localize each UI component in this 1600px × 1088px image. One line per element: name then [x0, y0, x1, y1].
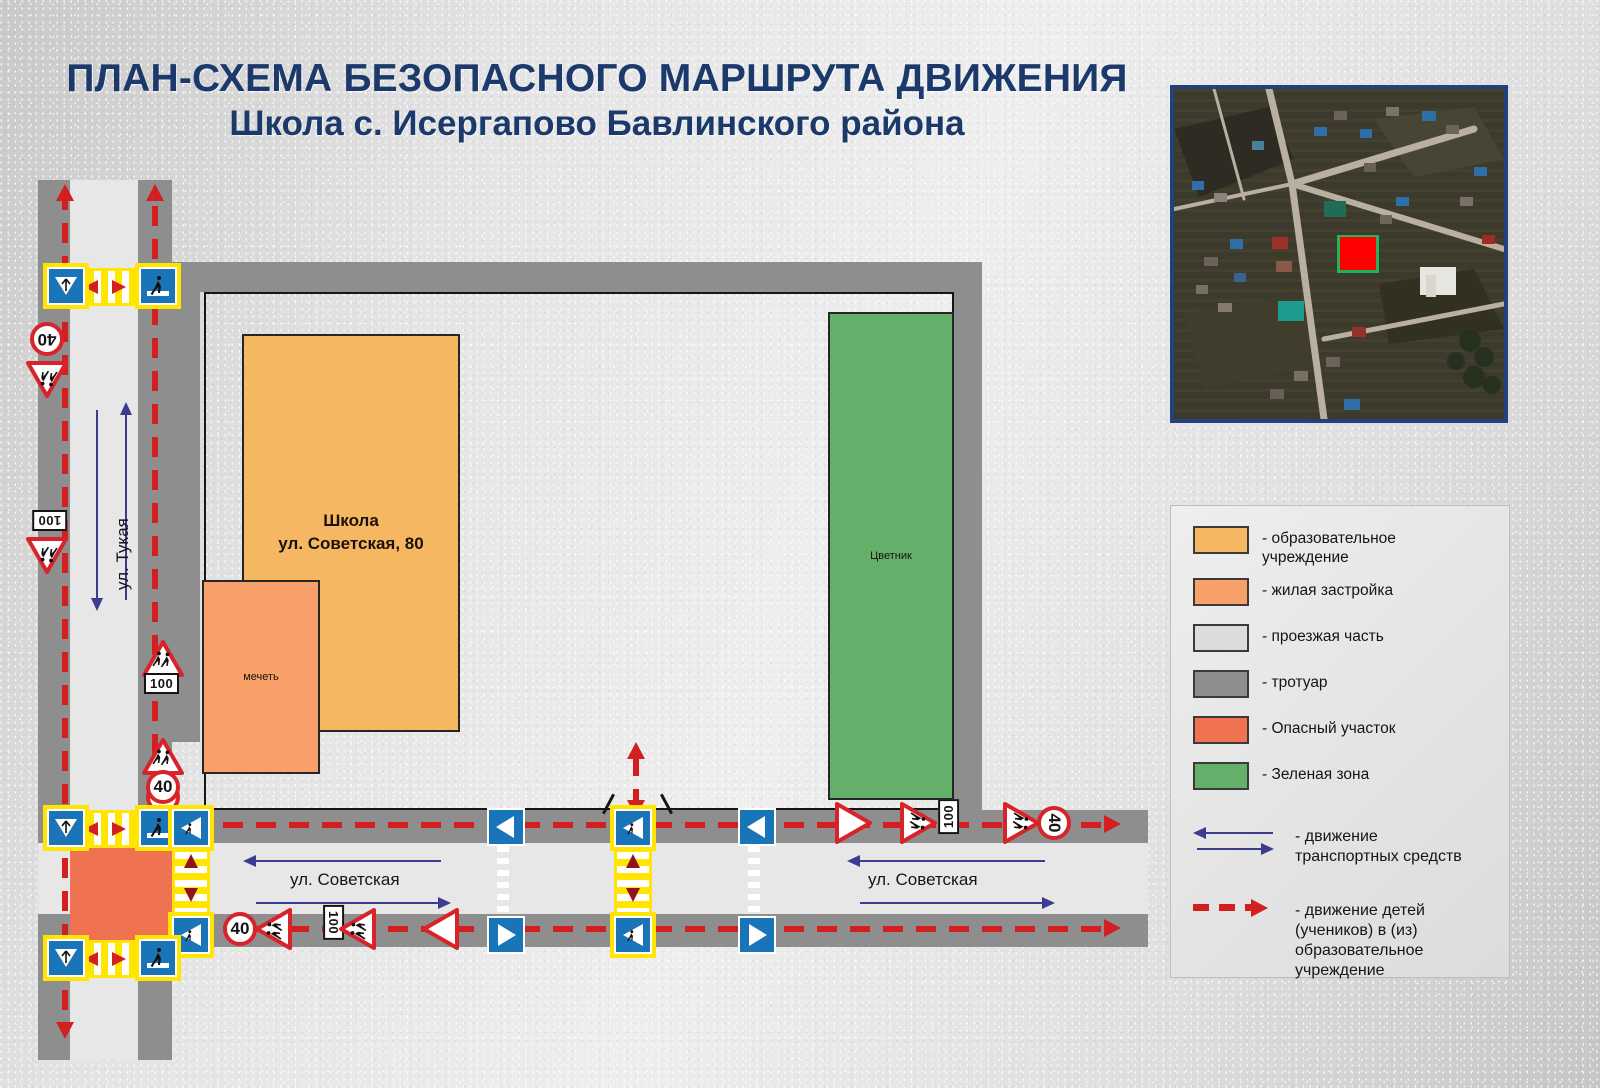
legend-label-education: - образовательное учреждение: [1262, 526, 1396, 568]
lane-marking-west: [497, 846, 509, 912]
legend-label-danger: - Опасный участок: [1262, 716, 1395, 738]
distance-plate-north-1[interactable]: 100: [938, 799, 959, 834]
pedestrian-crossing-sign-mid-left[interactable]: [47, 809, 85, 847]
legend-pupil-arrow-glyph: [1193, 898, 1273, 918]
building-flowerbed[interactable]: Цветник: [828, 312, 954, 800]
legend-item-pupil-movement: - движение детей (учеников) в (из) образ…: [1193, 898, 1425, 981]
pedestrian-crossing-ahead-icon: [177, 921, 205, 949]
direction-arrow-icon: [743, 813, 771, 841]
speed-limit-sign-west-upper[interactable]: 40: [30, 322, 64, 356]
crosswalk-arrow-top-right: [112, 280, 126, 294]
legend-item-housing: - жилая застройка: [1193, 578, 1393, 606]
crosswalk-arrow-mid-left: [84, 822, 98, 836]
yard-sidewalk-top: [172, 262, 982, 292]
children-crossing-icon: [1002, 802, 1040, 844]
pedestrian-crossing-ahead-icon: [53, 273, 79, 299]
legend-item-education: - образовательное учреждение: [1193, 526, 1396, 568]
street-label-sovetskaya-left: ул. Советская: [290, 870, 400, 890]
legend-swatch-sidewalk: [1193, 670, 1249, 698]
pupil-route-tukaya-west-lower-head: [56, 1022, 74, 1039]
traffic-arrow-sovetskaya-right-east-head: [1042, 897, 1055, 909]
pedestrian-crossing-ahead-icon: [619, 921, 647, 949]
pupil-route-school-gate-head-up: [627, 742, 645, 759]
title-sub-line: Школа с. Исергапово Бавлинского района: [42, 104, 1152, 143]
crosswalk-arrow-school-up: [626, 854, 640, 868]
legend-item-green: - Зеленая зона: [1193, 762, 1369, 790]
pedestrian-crossing-ahead-icon: [53, 815, 79, 841]
direction-arrow-icon: [492, 921, 520, 949]
direction-triangle-south-1[interactable]: [422, 908, 460, 950]
distance-plate-east[interactable]: 100: [144, 673, 179, 694]
traffic-arrow-sovetskaya-left-west-line: [256, 860, 441, 862]
children-crossing-icon: [339, 908, 377, 950]
pupil-route-school-gate: [633, 756, 639, 804]
crossing-sign-junction-north[interactable]: [172, 809, 210, 847]
pedestrian-crossing-ahead-icon: [177, 814, 205, 842]
legend-item-danger: - Опасный участок: [1193, 716, 1395, 744]
legend-traffic-arrow-glyph: [1193, 824, 1273, 858]
children-crossing-icon: [255, 908, 293, 950]
direction-arrow-icon: [422, 908, 460, 950]
legend-swatch-roadway: [1193, 624, 1249, 652]
crosswalk-arrow-west-up: [184, 854, 198, 868]
satellite-image: [1174, 89, 1504, 419]
pedestrian-crossing-sign-bot-left[interactable]: [47, 939, 85, 977]
route-map: Школа ул. Советская, 80 мечеть Цветник у…: [0, 170, 1160, 1070]
yard-sidewalk-right: [954, 262, 982, 810]
children-crossing-icon: [899, 802, 937, 844]
children-warning-sign-south-1[interactable]: [255, 908, 293, 950]
legend-item-traffic-movement: - движение транспортных средств: [1193, 824, 1462, 867]
direction-arrow-icon: [834, 802, 872, 844]
crosswalk-arrow-mid-right: [112, 822, 126, 836]
page-title: ПЛАН-СХЕМА БЕЗОПАСНОГО МАРШРУТА ДВИЖЕНИЯ…: [42, 58, 1152, 143]
children-crossing-icon: [26, 536, 68, 574]
direction-sign-north-mid[interactable]: [487, 808, 525, 846]
title-main-line: ПЛАН-СХЕМА БЕЗОПАСНОГО МАРШРУТА ДВИЖЕНИЯ: [42, 58, 1152, 100]
legend-label-housing: - жилая застройка: [1262, 578, 1393, 600]
direction-triangle-north-1[interactable]: [834, 802, 872, 844]
children-warning-sign-north-2[interactable]: [1002, 802, 1040, 844]
crosswalk-arrow-bot-right: [112, 952, 126, 966]
children-warning-sign-west-lower[interactable]: [26, 536, 68, 574]
direction-arrow-icon: [492, 813, 520, 841]
legend-swatch-danger: [1193, 716, 1249, 744]
traffic-arrow-sovetskaya-right-west-line: [860, 860, 1045, 862]
legend-item-roadway: - проезжая часть: [1193, 624, 1384, 652]
pedestrian-crossing-sign-bot-right[interactable]: [139, 939, 177, 977]
traffic-arrow-sovetskaya-right-west-head: [847, 855, 860, 867]
pupil-route-sovetskaya-north-head-east: [1104, 815, 1121, 833]
crosswalk-arrow-school-down: [626, 888, 640, 902]
legend-swatch-housing: [1193, 578, 1249, 606]
traffic-arrow-sovetskaya-left-east-line: [256, 902, 441, 904]
building-mosque-label: мечеть: [204, 582, 318, 772]
pedestrian-crossing-icon: [145, 273, 171, 299]
legend-panel: - образовательное учреждение - жилая зас…: [1170, 505, 1510, 978]
building-mosque[interactable]: мечеть: [202, 580, 320, 774]
crosswalk-arrow-top-left: [84, 280, 98, 294]
traffic-arrow-tukaya-up-head: [120, 402, 132, 415]
children-warning-sign-west-upper[interactable]: [26, 360, 68, 398]
distance-plate-west[interactable]: 100: [32, 510, 67, 531]
crossing-sign-school-north[interactable]: [614, 809, 652, 847]
traffic-arrow-sovetskaya-right-east-line: [860, 902, 1045, 904]
pupil-route-sovetskaya-south-head-east: [1104, 919, 1121, 937]
danger-zone: [70, 843, 172, 947]
pedestrian-crossing-sign-top-right[interactable]: [139, 267, 177, 305]
crosswalk-arrow-west-down: [184, 888, 198, 902]
legend-swatch-education: [1193, 526, 1249, 554]
pedestrian-crossing-sign-top-left[interactable]: [47, 267, 85, 305]
pedestrian-crossing-icon: [145, 945, 171, 971]
building-flowerbed-label: Цветник: [830, 314, 952, 798]
speed-limit-sign-south-1[interactable]: 40: [223, 912, 257, 946]
speed-limit-sign-junction[interactable]: 40: [146, 770, 180, 804]
crosswalk-arrow-bot-left: [84, 952, 98, 966]
pupil-route-tukaya-east-head: [146, 184, 164, 201]
traffic-arrow-tukaya-down-line: [96, 410, 98, 600]
children-crossing-icon: [26, 360, 68, 398]
street-label-tukaya: ул. Тукая: [113, 518, 133, 590]
traffic-arrow-tukaya-down-head: [91, 598, 103, 611]
legend-label-traffic-movement: - движение транспортных средств: [1295, 824, 1462, 867]
legend-label-sidewalk: - тротуар: [1262, 670, 1328, 692]
direction-sign-north-east[interactable]: [738, 808, 776, 846]
street-label-sovetskaya-right: ул. Советская: [868, 870, 978, 890]
direction-sign-south-mid[interactable]: [487, 916, 525, 954]
speed-limit-sign-north-east[interactable]: 40: [1037, 806, 1071, 840]
pedestrian-crossing-ahead-icon: [53, 945, 79, 971]
legend-label-roadway: - проезжая часть: [1262, 624, 1384, 646]
pedestrian-crossing-ahead-icon: [619, 814, 647, 842]
crossing-sign-school-south[interactable]: [614, 916, 652, 954]
pedestrian-crossing-icon: [145, 815, 171, 841]
traffic-arrow-sovetskaya-left-west-head: [243, 855, 256, 867]
children-warning-sign-south-2[interactable]: [339, 908, 377, 950]
pupil-route-tukaya-west-head: [56, 184, 74, 201]
legend-label-green: - Зеленая зона: [1262, 762, 1369, 784]
children-warning-sign-north-1[interactable]: [899, 802, 937, 844]
poster-root: ПЛАН-СХЕМА БЕЗОПАСНОГО МАРШРУТА ДВИЖЕНИЯ…: [0, 0, 1600, 1088]
legend-item-sidewalk: - тротуар: [1193, 670, 1328, 698]
legend-swatch-green: [1193, 762, 1249, 790]
lane-marking-east: [748, 846, 760, 912]
direction-sign-south-east[interactable]: [738, 916, 776, 954]
direction-arrow-icon: [743, 921, 771, 949]
legend-label-pupil-movement: - движение детей (учеников) в (из) образ…: [1295, 898, 1425, 981]
crossing-sign-junction-south[interactable]: [172, 916, 210, 954]
satellite-photo-inset: [1170, 85, 1508, 423]
